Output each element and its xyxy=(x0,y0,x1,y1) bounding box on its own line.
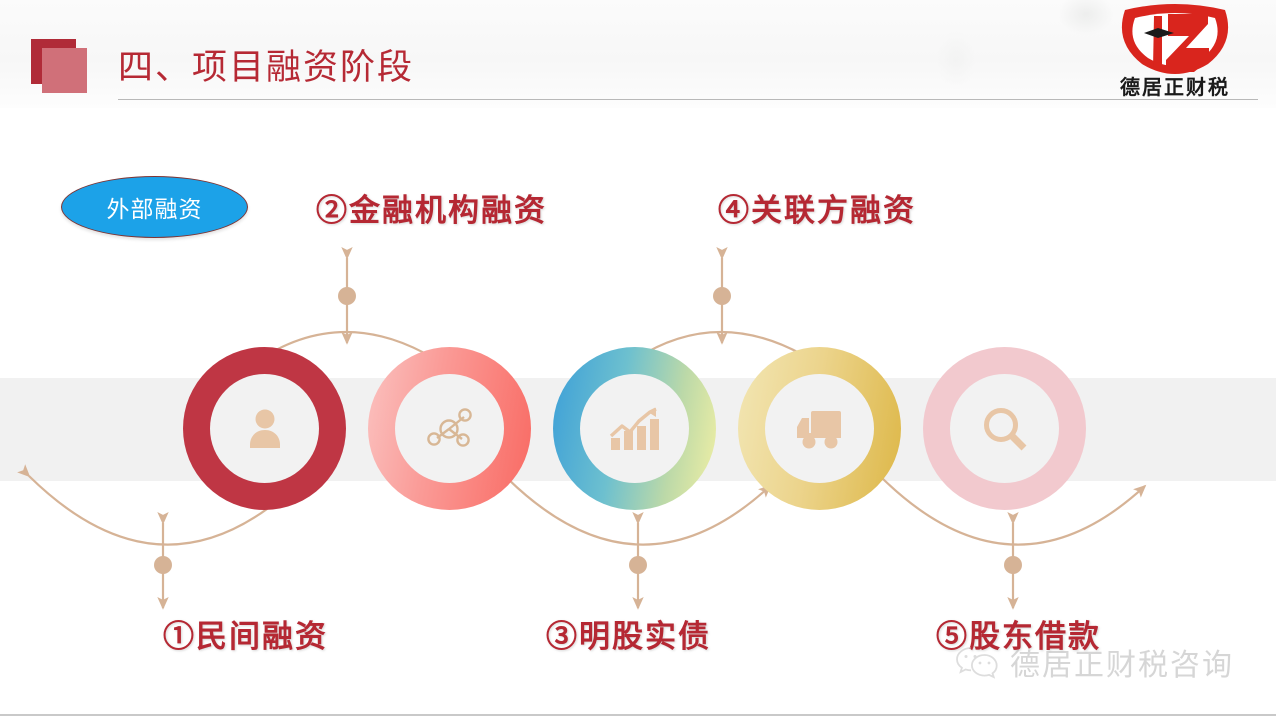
label-item-1: ①民间融资 xyxy=(163,611,328,656)
node-2-network[interactable] xyxy=(368,347,531,510)
node-1-inner xyxy=(210,374,319,483)
title-square-front xyxy=(42,48,87,93)
external-financing-callout[interactable]: 外部融资 xyxy=(61,176,248,238)
wechat-icon xyxy=(955,645,1001,679)
label-item-4: ④关联方融资 xyxy=(718,185,916,230)
node-1-person[interactable] xyxy=(183,347,346,510)
slide-header: 四、项目融资阶段 xyxy=(0,0,1276,108)
search-icon xyxy=(978,402,1032,456)
node-4-inner xyxy=(765,374,874,483)
node-5-inner xyxy=(950,374,1059,483)
header-divider xyxy=(118,99,1258,100)
watermark-text: 德居正财税咨询 xyxy=(1010,640,1234,684)
truck-icon xyxy=(791,406,849,452)
bar-chart-icon xyxy=(606,404,664,454)
person-icon xyxy=(239,403,291,455)
network-icon xyxy=(422,404,478,454)
logo-brand-text: 德居正财税 xyxy=(1120,75,1230,99)
label-item-2: ②金融机构融资 xyxy=(316,185,547,230)
company-logo: 德居正财税 xyxy=(1090,2,1260,102)
wechat-watermark: 德居正财税咨询 xyxy=(955,640,1234,684)
node-2-inner xyxy=(395,374,504,483)
dejuzheng-emblem-icon: 德居正财税 xyxy=(1090,2,1260,102)
node-5-search[interactable] xyxy=(923,347,1086,510)
page-title: 四、项目融资阶段 xyxy=(118,46,414,90)
external-financing-label: 外部融资 xyxy=(107,190,203,224)
node-4-truck[interactable] xyxy=(738,347,901,510)
node-3-inner xyxy=(580,374,689,483)
node-3-bar-chart[interactable] xyxy=(553,347,716,510)
slide-canvas: 四、项目融资阶段 德居正财税 xyxy=(0,0,1276,716)
label-item-3: ③明股实债 xyxy=(546,611,711,656)
